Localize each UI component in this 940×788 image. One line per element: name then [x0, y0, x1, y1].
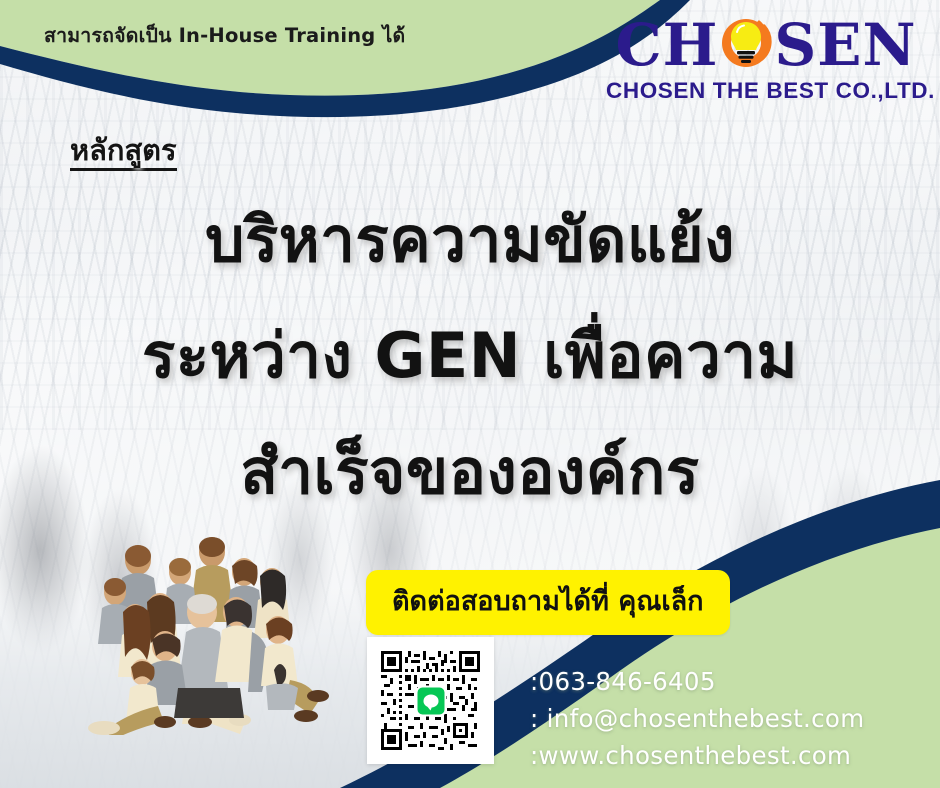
contact-email[interactable]: : info@chosenthebest.com [530, 700, 864, 737]
contact-details: :063-846-6405 : info@chosenthebest.com :… [530, 663, 864, 774]
contact-phone[interactable]: :063-846-6405 [530, 663, 864, 700]
logo-text-part1: CH [615, 14, 718, 76]
company-logo: CH SEN CHOSEN THE BEST CO.,LTD. [606, 14, 926, 104]
qr-code-matrix [381, 651, 480, 750]
family-group-illustration [60, 520, 360, 735]
line-app-icon [415, 685, 446, 716]
in-house-training-tagline: สามารถจัดเป็น In-House Training ได้ [44, 20, 405, 51]
logo-o-emblem [718, 15, 774, 71]
logo-text-part2: SEN [774, 14, 916, 76]
title-line-1: บริหารความขัดแย้ง [0, 182, 940, 298]
contact-pill-label: ติดต่อสอบถามได้ที่ คุณเล็ก [366, 570, 730, 635]
line-qr-code-card[interactable] [367, 637, 494, 764]
logo-company-tagline: CHOSEN THE BEST CO.,LTD. [606, 78, 926, 104]
page-title: บริหารความขัดแย้ง ระหว่าง GEN เพื่อความ … [0, 182, 940, 530]
logo-wordmark: CH SEN [606, 14, 926, 76]
title-line-3: สำเร็จขององค์กร [0, 414, 940, 530]
title-line-2: ระหว่าง GEN เพื่อความ [0, 298, 940, 414]
course-kicker-label: หลักสูตร [70, 133, 177, 171]
contact-website[interactable]: :www.chosenthebest.com [530, 737, 864, 774]
lightbulb-icon [729, 21, 763, 63]
poster-canvas: สามารถจัดเป็น In-House Training ได้ CH S… [0, 0, 940, 788]
